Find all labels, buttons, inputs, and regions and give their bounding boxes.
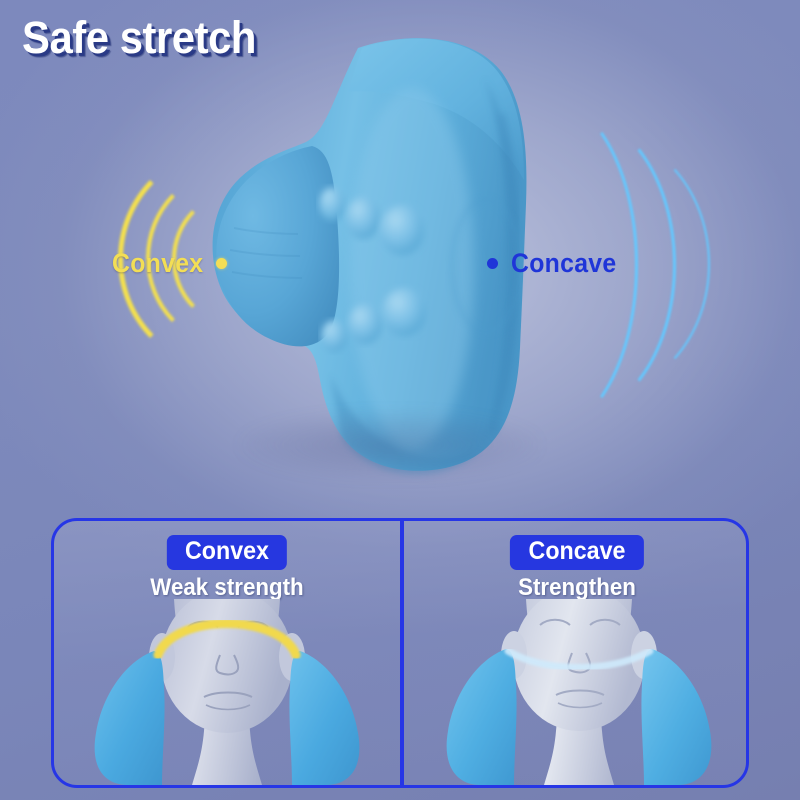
badge-convex-label: Convex bbox=[185, 538, 269, 565]
label-convex: Convex bbox=[112, 248, 227, 279]
badge-concave: Concave bbox=[510, 535, 644, 570]
product-shadow bbox=[240, 410, 540, 480]
caption-concave-label: Strengthen bbox=[518, 574, 636, 602]
dot-marker-yellow-icon bbox=[216, 258, 227, 269]
bump-4 bbox=[321, 320, 347, 352]
pillow-wing-right bbox=[641, 649, 711, 785]
pillow-wing-right bbox=[289, 651, 359, 785]
label-concave: Concave bbox=[487, 248, 626, 279]
bump-3 bbox=[380, 205, 424, 255]
product-convex-lobe bbox=[216, 146, 339, 346]
bump-1 bbox=[319, 187, 345, 221]
illustration-convex bbox=[54, 599, 400, 785]
pillow-wing-left bbox=[447, 649, 517, 785]
badge-convex: Convex bbox=[167, 535, 287, 570]
product-infographic: Safe stretch Convex Concave Convex Weak … bbox=[0, 0, 800, 800]
caption-convex: Weak strength bbox=[145, 574, 310, 602]
product-highlight bbox=[350, 88, 474, 448]
bump-5 bbox=[348, 304, 382, 344]
bump-2 bbox=[346, 197, 380, 239]
panel-concave: Concave Strengthen bbox=[404, 521, 749, 785]
comparison-panel: Convex Weak strength bbox=[51, 518, 749, 788]
panel-convex: Convex Weak strength bbox=[54, 521, 400, 785]
caption-convex-label: Weak strength bbox=[150, 574, 303, 602]
hero-section: Safe stretch Convex Concave bbox=[0, 0, 800, 505]
caption-concave: Strengthen bbox=[514, 574, 641, 602]
label-convex-text: Convex bbox=[112, 248, 203, 279]
pillow-wing-left bbox=[95, 651, 165, 785]
label-concave-text: Concave bbox=[511, 248, 616, 279]
head-figure bbox=[501, 599, 657, 785]
bump-6 bbox=[382, 288, 426, 336]
badge-concave-label: Concave bbox=[529, 538, 626, 565]
dot-marker-blue-icon bbox=[487, 258, 498, 269]
illustration-concave bbox=[404, 599, 749, 785]
page-title: Safe stretch bbox=[22, 12, 256, 64]
